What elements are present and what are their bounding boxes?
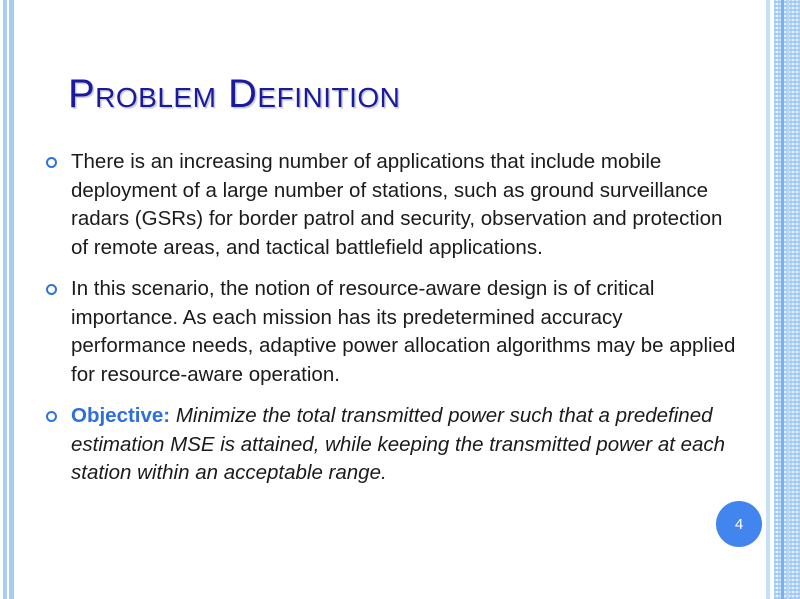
ring-bullet-icon <box>46 284 57 295</box>
bullet-item-objective-body: Objective: Minimize the total transmitte… <box>71 402 736 488</box>
left-decorative-stripe-outer <box>3 0 7 599</box>
right-decorative-accent-line <box>781 0 784 599</box>
bullet-item-text: There is an increasing number of applica… <box>71 148 736 262</box>
bullet-item-text: In this scenario, the notion of resource… <box>71 275 736 389</box>
bullet-item: There is an increasing number of applica… <box>46 148 736 262</box>
page-number-badge: 4 <box>716 501 762 547</box>
ring-bullet-icon <box>46 411 57 422</box>
right-decorative-stripe-thin <box>766 0 770 599</box>
bullet-item: In this scenario, the notion of resource… <box>46 275 736 389</box>
ring-bullet-icon <box>46 157 57 168</box>
bullet-item-objective: Objective: Minimize the total transmitte… <box>46 402 736 488</box>
objective-label: Objective: <box>71 404 170 427</box>
objective-statement: Minimize the total transmitted power suc… <box>71 404 725 484</box>
slide-title: Problem Definition <box>68 72 400 117</box>
slide-canvas: Problem Definition There is an increasin… <box>0 0 800 599</box>
slide-body: There is an increasing number of applica… <box>46 148 736 501</box>
left-decorative-stripe-inner <box>9 0 14 599</box>
right-decorative-accent-line-secondary <box>787 0 789 599</box>
